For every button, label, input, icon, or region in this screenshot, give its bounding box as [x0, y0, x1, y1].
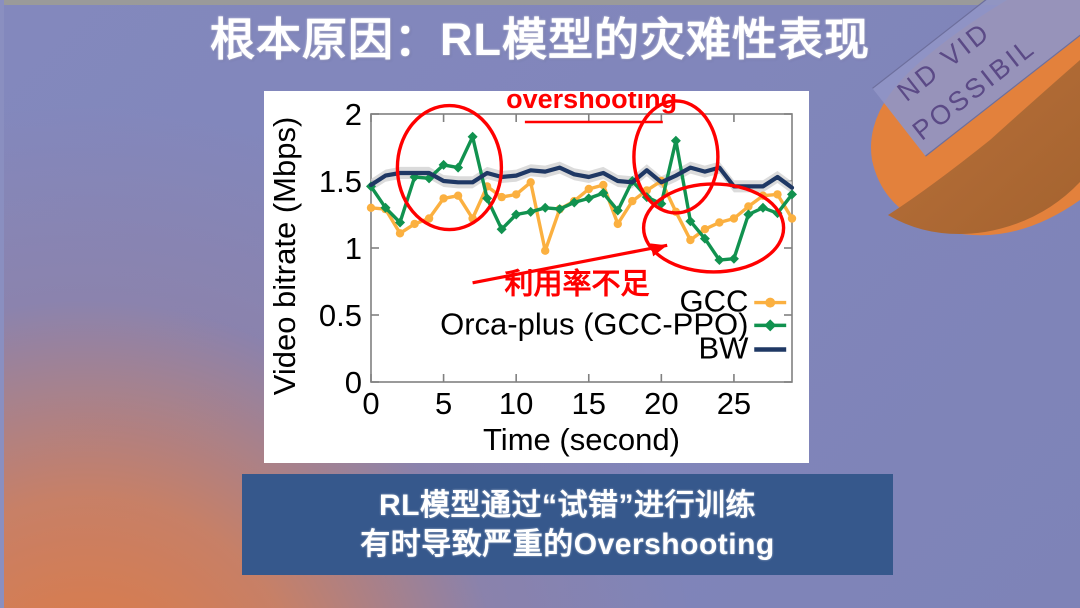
x-tick-label-2: 10 [499, 386, 533, 421]
marker-gcc-16 [599, 181, 607, 189]
x-tick-label-5: 25 [717, 386, 751, 421]
x-tick-label-3: 15 [572, 386, 606, 421]
marker-gcc-28 [773, 190, 781, 198]
marker-gcc-24 [715, 218, 723, 226]
marker-gcc-5 [439, 194, 447, 202]
marker-gcc-22 [686, 236, 694, 244]
page-title: 根本原因：RL模型的灾难性表现 [0, 14, 1080, 66]
x-axis-label: Time (second) [483, 422, 680, 457]
marker-gcc-25 [730, 214, 738, 222]
legend-marker-gcc [765, 298, 775, 308]
x-tick-label-0: 0 [362, 386, 379, 421]
marker-gcc-10 [512, 190, 520, 198]
marker-gcc-3 [410, 220, 418, 228]
ellipse-underutilization [644, 184, 784, 272]
marker-gcc-12 [541, 247, 549, 255]
marker-gcc-0 [367, 204, 375, 212]
marker-gcc-26 [744, 202, 752, 210]
marker-orca-25 [729, 254, 739, 264]
legend-label-bw: BW [699, 331, 750, 366]
y-tick-label-3: 1.5 [319, 164, 362, 199]
caption-line-1: RL模型通过“试错”进行训练 [379, 486, 756, 525]
marker-gcc-29 [788, 214, 796, 222]
x-tick-label-4: 20 [644, 386, 678, 421]
marker-gcc-11 [527, 178, 535, 186]
marker-orca-21 [671, 136, 681, 146]
marker-gcc-6 [454, 192, 462, 200]
series-line-gcc [371, 181, 792, 251]
marker-orca-12 [540, 203, 550, 213]
series-line-orca-plus-gcc-ppo- [371, 137, 792, 260]
y-axis-label: Video bitrate (Mbps) [267, 117, 302, 396]
marker-orca-27 [758, 203, 768, 213]
caption-line-2: 有时导致严重的Overshooting [360, 525, 775, 564]
marker-gcc-9 [498, 193, 506, 201]
marker-orca-11 [526, 207, 536, 217]
legend-marker-orca [764, 319, 776, 331]
marker-gcc-18 [628, 197, 636, 205]
slide-canvas: ND VID POSSIBIL 根本原因：RL模型的灾难性表现 00.511.5… [0, 0, 1080, 608]
y-tick-label-4: 2 [345, 97, 362, 132]
y-tick-label-1: 0.5 [319, 298, 362, 333]
caption-banner: RL模型通过“试错”进行训练 有时导致严重的Overshooting [242, 474, 893, 575]
marker-gcc-17 [614, 220, 622, 228]
marker-orca-15 [584, 193, 594, 203]
left-edge-strip [0, 0, 4, 608]
annotation-overshooting: overshooting [506, 92, 677, 114]
marker-gcc-15 [585, 185, 593, 193]
y-tick-label-0: 0 [345, 365, 362, 400]
ellipse-right-overshoot [634, 101, 718, 213]
chart-panel: 00.511.520510152025Time (second)Video bi… [265, 92, 808, 462]
marker-gcc-23 [701, 225, 709, 233]
marker-gcc-2 [396, 229, 404, 237]
x-tick-label-1: 5 [435, 386, 452, 421]
y-tick-label-2: 1 [345, 231, 362, 266]
